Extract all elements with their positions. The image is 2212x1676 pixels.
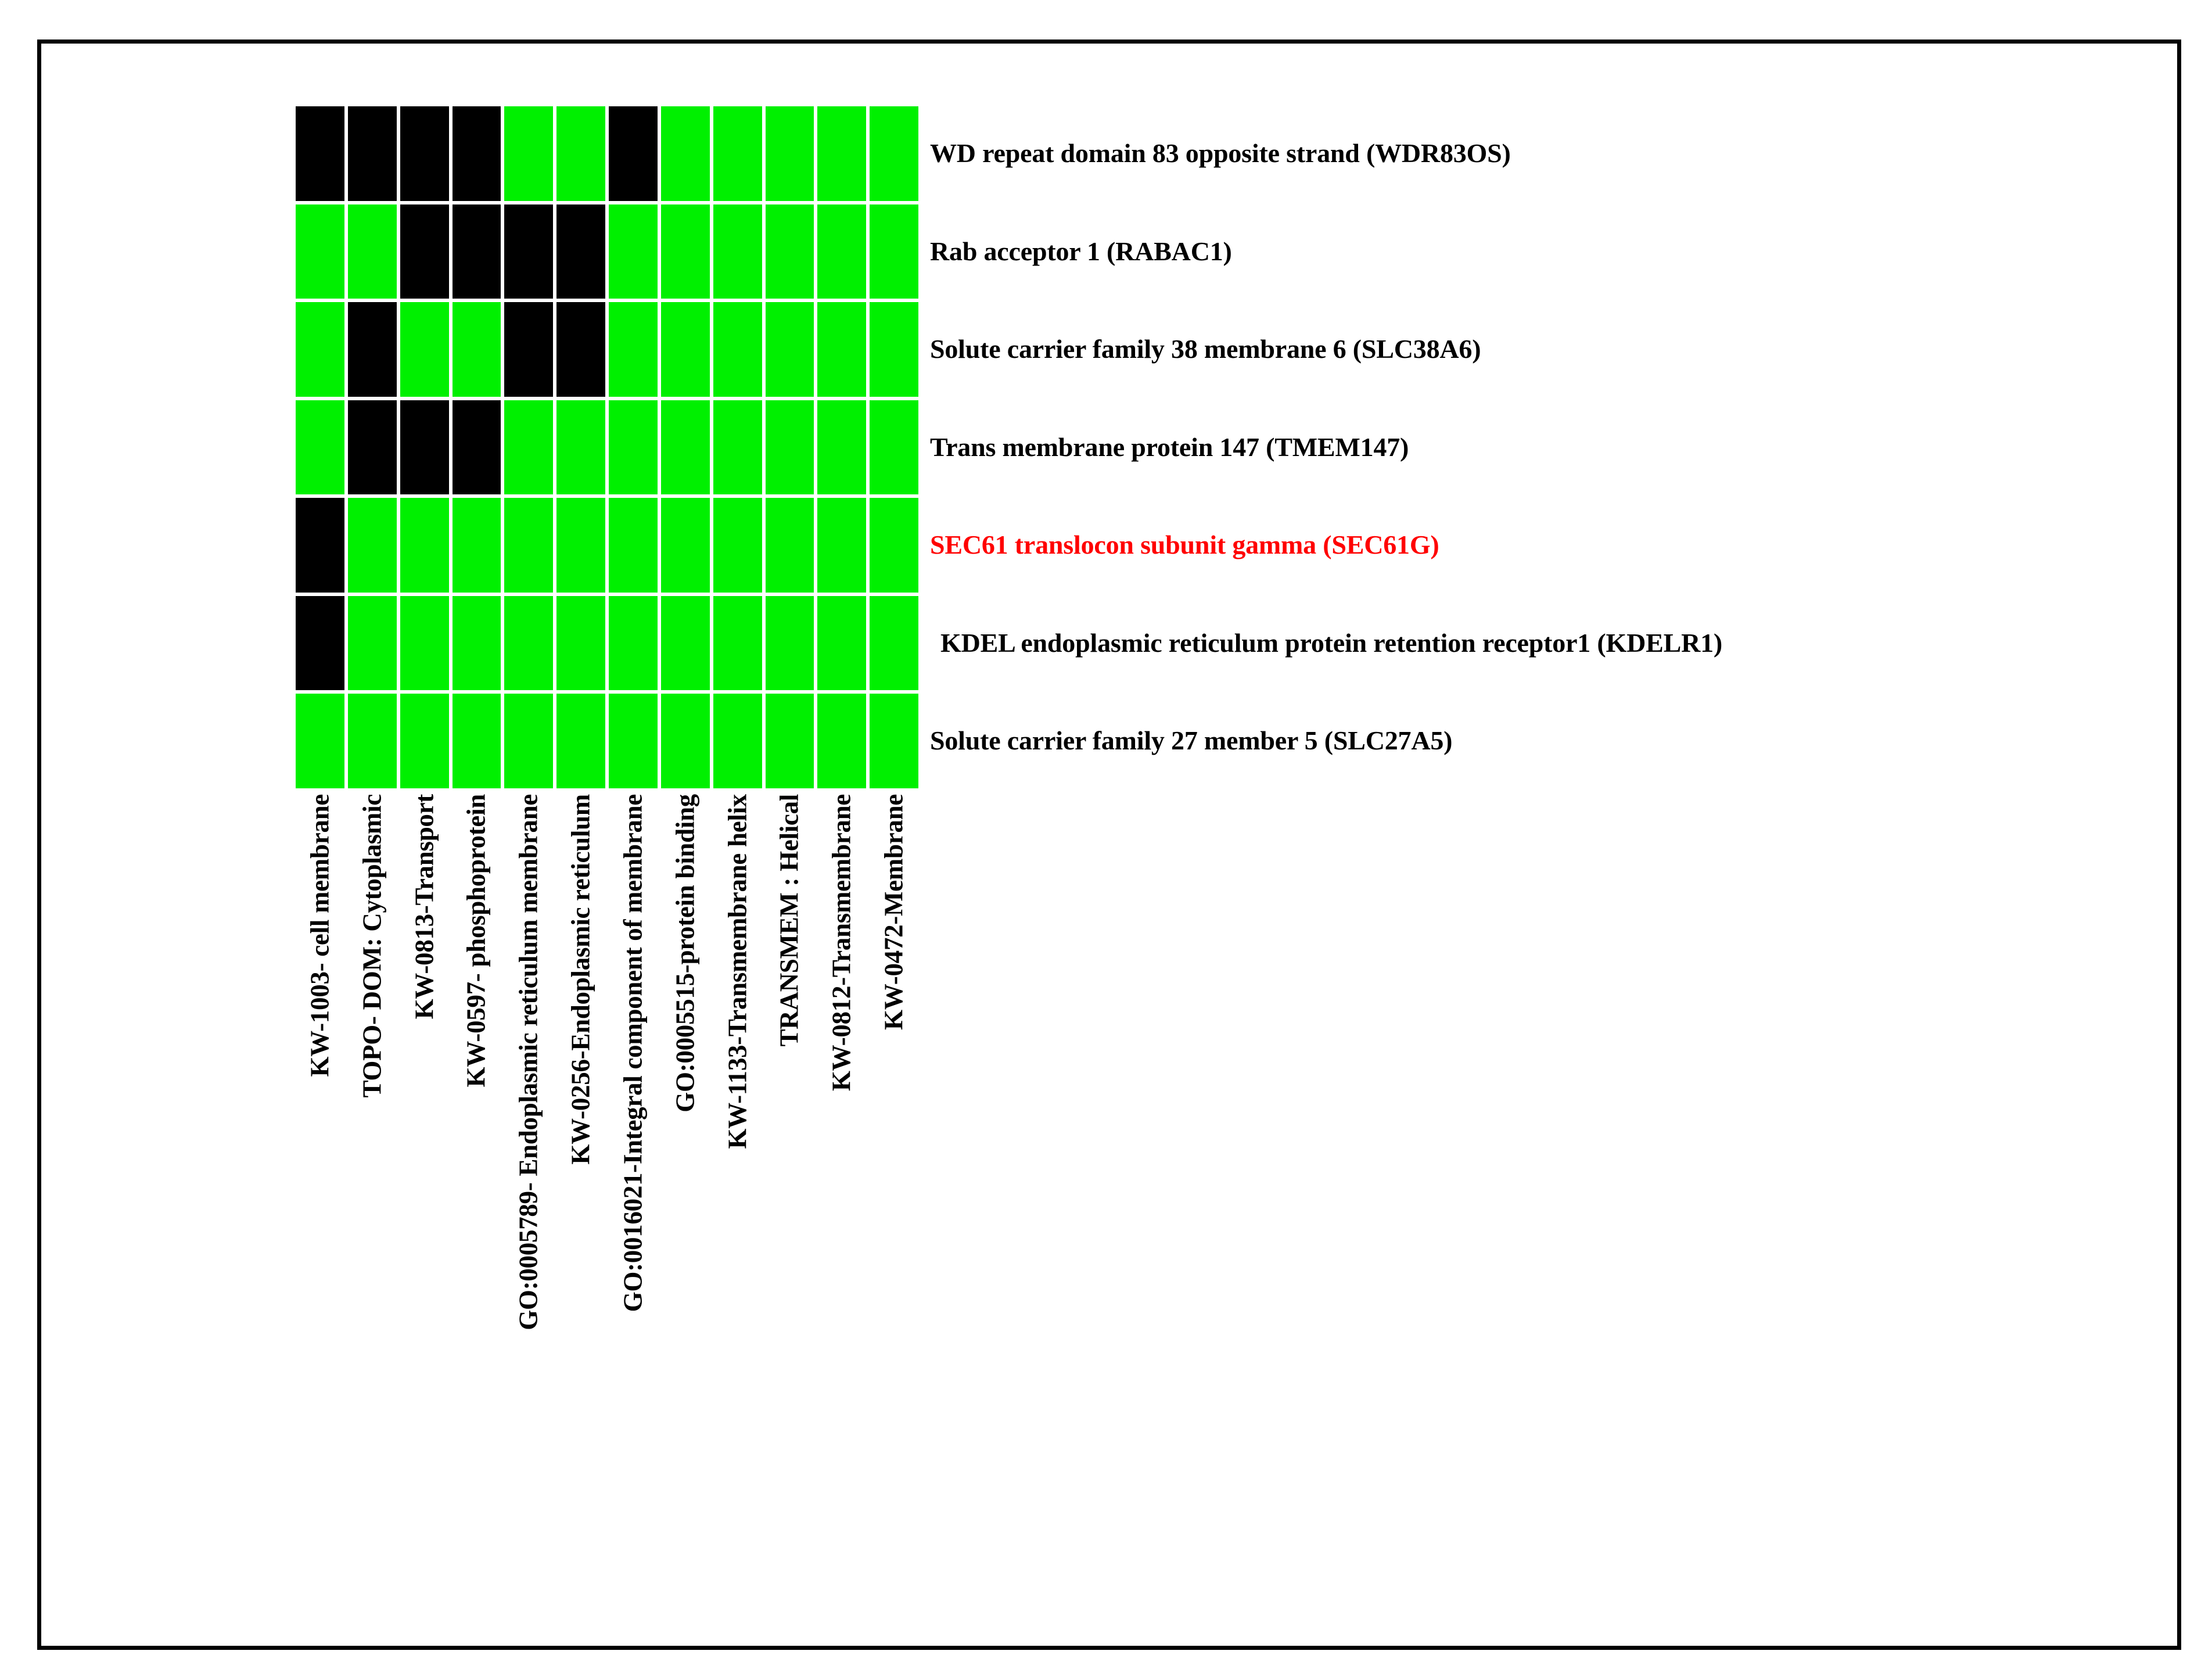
column-label-slot: TOPO- DOM: Cytoplasmic [346,794,398,1491]
heatmap-cell [294,496,346,594]
heatmap-cell [451,300,503,399]
heatmap-cell [712,300,764,399]
row-label: KDEL endoplasmic reticulum protein reten… [930,594,2179,692]
heatmap-cell [764,692,816,790]
column-label: KW-0472-Membrane [881,794,907,1030]
heatmap-cell [398,496,451,594]
heatmap-cell [816,496,868,594]
heatmap-cell [868,105,920,203]
heatmap-cell [659,105,712,203]
heatmap-cell [451,203,503,301]
heatmap-cell [294,105,346,203]
row-label: Trans membrane protein 147 (TMEM147) [930,399,2179,497]
column-label-slot: KW-0256-Endoplasmic reticulum [555,794,607,1491]
heatmap-cell [346,105,398,203]
heatmap-cell [659,300,712,399]
heatmap-cell [502,594,555,692]
heatmap-cell [451,105,503,203]
column-label: GO:0005789- Endoplasmic reticulum membra… [516,794,542,1330]
row-label: WD repeat domain 83 opposite strand (WDR… [930,105,2179,203]
heatmap-cell [607,399,659,497]
column-label-slot: KW-0597- phosphoprotein [451,794,503,1491]
heatmap-cell [555,594,607,692]
heatmap-cell [816,105,868,203]
heatmap-cell [346,594,398,692]
heatmap-cell [398,105,451,203]
heatmap-cell [816,594,868,692]
column-label-slot: GO:0016021-Integral component of membran… [607,794,659,1491]
heatmap-cell [346,203,398,301]
heatmap-cell [712,399,764,497]
heatmap-cell [659,399,712,497]
heatmap-cell [764,496,816,594]
heatmap-cell [502,496,555,594]
heatmap-cell [294,399,346,497]
column-label-slot: GO:0005515-protein binding [659,794,712,1491]
heatmap-cell [607,300,659,399]
heatmap-cell [712,203,764,301]
heatmap-cell [294,594,346,692]
column-label-slot: KW-1133-Transmembrane helix [712,794,764,1491]
heatmap-cell [764,203,816,301]
row-label: Rab acceptor 1 (RABAC1) [930,203,2179,301]
column-label: KW-0256-Endoplasmic reticulum [568,794,594,1165]
heatmap-cell [555,496,607,594]
heatmap-cell [659,594,712,692]
row-label: Solute carrier family 27 member 5 (SLC27… [930,692,2179,790]
column-label: KW-0813-Transport [411,794,437,1019]
row-label: SEC61 translocon subunit gamma (SEC61G) [930,496,2179,594]
heatmap-cell [398,300,451,399]
heatmap-cell [555,399,607,497]
heatmap-cell [398,399,451,497]
heatmap-cell [764,594,816,692]
heatmap-cell [294,300,346,399]
heatmap-cell [868,300,920,399]
column-label: GO:0016021-Integral component of membran… [620,794,646,1312]
heatmap-cell [816,203,868,301]
column-label-row: KW-1003- cell membraneTOPO- DOM: Cytopla… [294,794,920,1491]
heatmap-cell [398,594,451,692]
column-label: KW-1133-Transmembrane helix [724,794,751,1149]
heatmap-cell [346,399,398,497]
heatmap-cell [502,300,555,399]
heatmap-cell [764,300,816,399]
heatmap-cell [451,594,503,692]
heatmap-cell [294,692,346,790]
heatmap-cell [659,496,712,594]
column-label: KW-1003- cell membrane [307,794,333,1077]
column-label: KW-0812-Transmembrane [829,794,855,1091]
heatmap-grid [294,105,920,790]
heatmap-cell [607,692,659,790]
heatmap-cell [816,692,868,790]
heatmap-cell [502,692,555,790]
heatmap-cell [607,105,659,203]
heatmap-cell [607,203,659,301]
heatmap-cell [868,594,920,692]
heatmap-cell [659,203,712,301]
heatmap-cell [555,300,607,399]
column-label-slot: TRANSMEM : Helical [764,794,816,1491]
heatmap-cell [712,692,764,790]
figure-frame: WD repeat domain 83 opposite strand (WDR… [37,40,2181,1650]
column-label-slot: GO:0005789- Endoplasmic reticulum membra… [502,794,555,1491]
heatmap-cell [712,594,764,692]
column-label: TRANSMEM : Helical [777,794,803,1047]
heatmap-cell [816,399,868,497]
heatmap-cell [451,496,503,594]
heatmap-cell [502,105,555,203]
heatmap-cell [712,496,764,594]
heatmap-cell [764,399,816,497]
heatmap-cell [555,105,607,203]
heatmap-cell [659,692,712,790]
row-label: Solute carrier family 38 membrane 6 (SLC… [930,300,2179,399]
column-label: KW-0597- phosphoprotein [464,794,490,1087]
heatmap-cell [451,692,503,790]
heatmap-cell [502,203,555,301]
heatmap-cell [607,594,659,692]
column-label: GO:0005515-protein binding [672,794,698,1112]
heatmap-cell [764,105,816,203]
heatmap-cell [607,496,659,594]
heatmap-cell [555,203,607,301]
heatmap-cell [294,203,346,301]
heatmap-cell [502,399,555,497]
heatmap-cell [398,692,451,790]
column-label: TOPO- DOM: Cytoplasmic [359,794,385,1098]
heatmap-cell [451,399,503,497]
column-label-slot: KW-1003- cell membrane [294,794,346,1491]
heatmap-cell [868,692,920,790]
column-label-slot: KW-0813-Transport [398,794,451,1491]
column-label-slot: KW-0812-Transmembrane [816,794,868,1491]
heatmap-cell [346,300,398,399]
heatmap-cell [868,203,920,301]
heatmap-cell [398,203,451,301]
heatmap-cell [346,496,398,594]
heatmap-cell [868,399,920,497]
heatmap-cell [868,496,920,594]
heatmap-cell [712,105,764,203]
heatmap-cell [816,300,868,399]
heatmap-cell [346,692,398,790]
column-label-slot: KW-0472-Membrane [868,794,920,1491]
heatmap-cell [555,692,607,790]
row-label-column: WD repeat domain 83 opposite strand (WDR… [930,105,2179,790]
